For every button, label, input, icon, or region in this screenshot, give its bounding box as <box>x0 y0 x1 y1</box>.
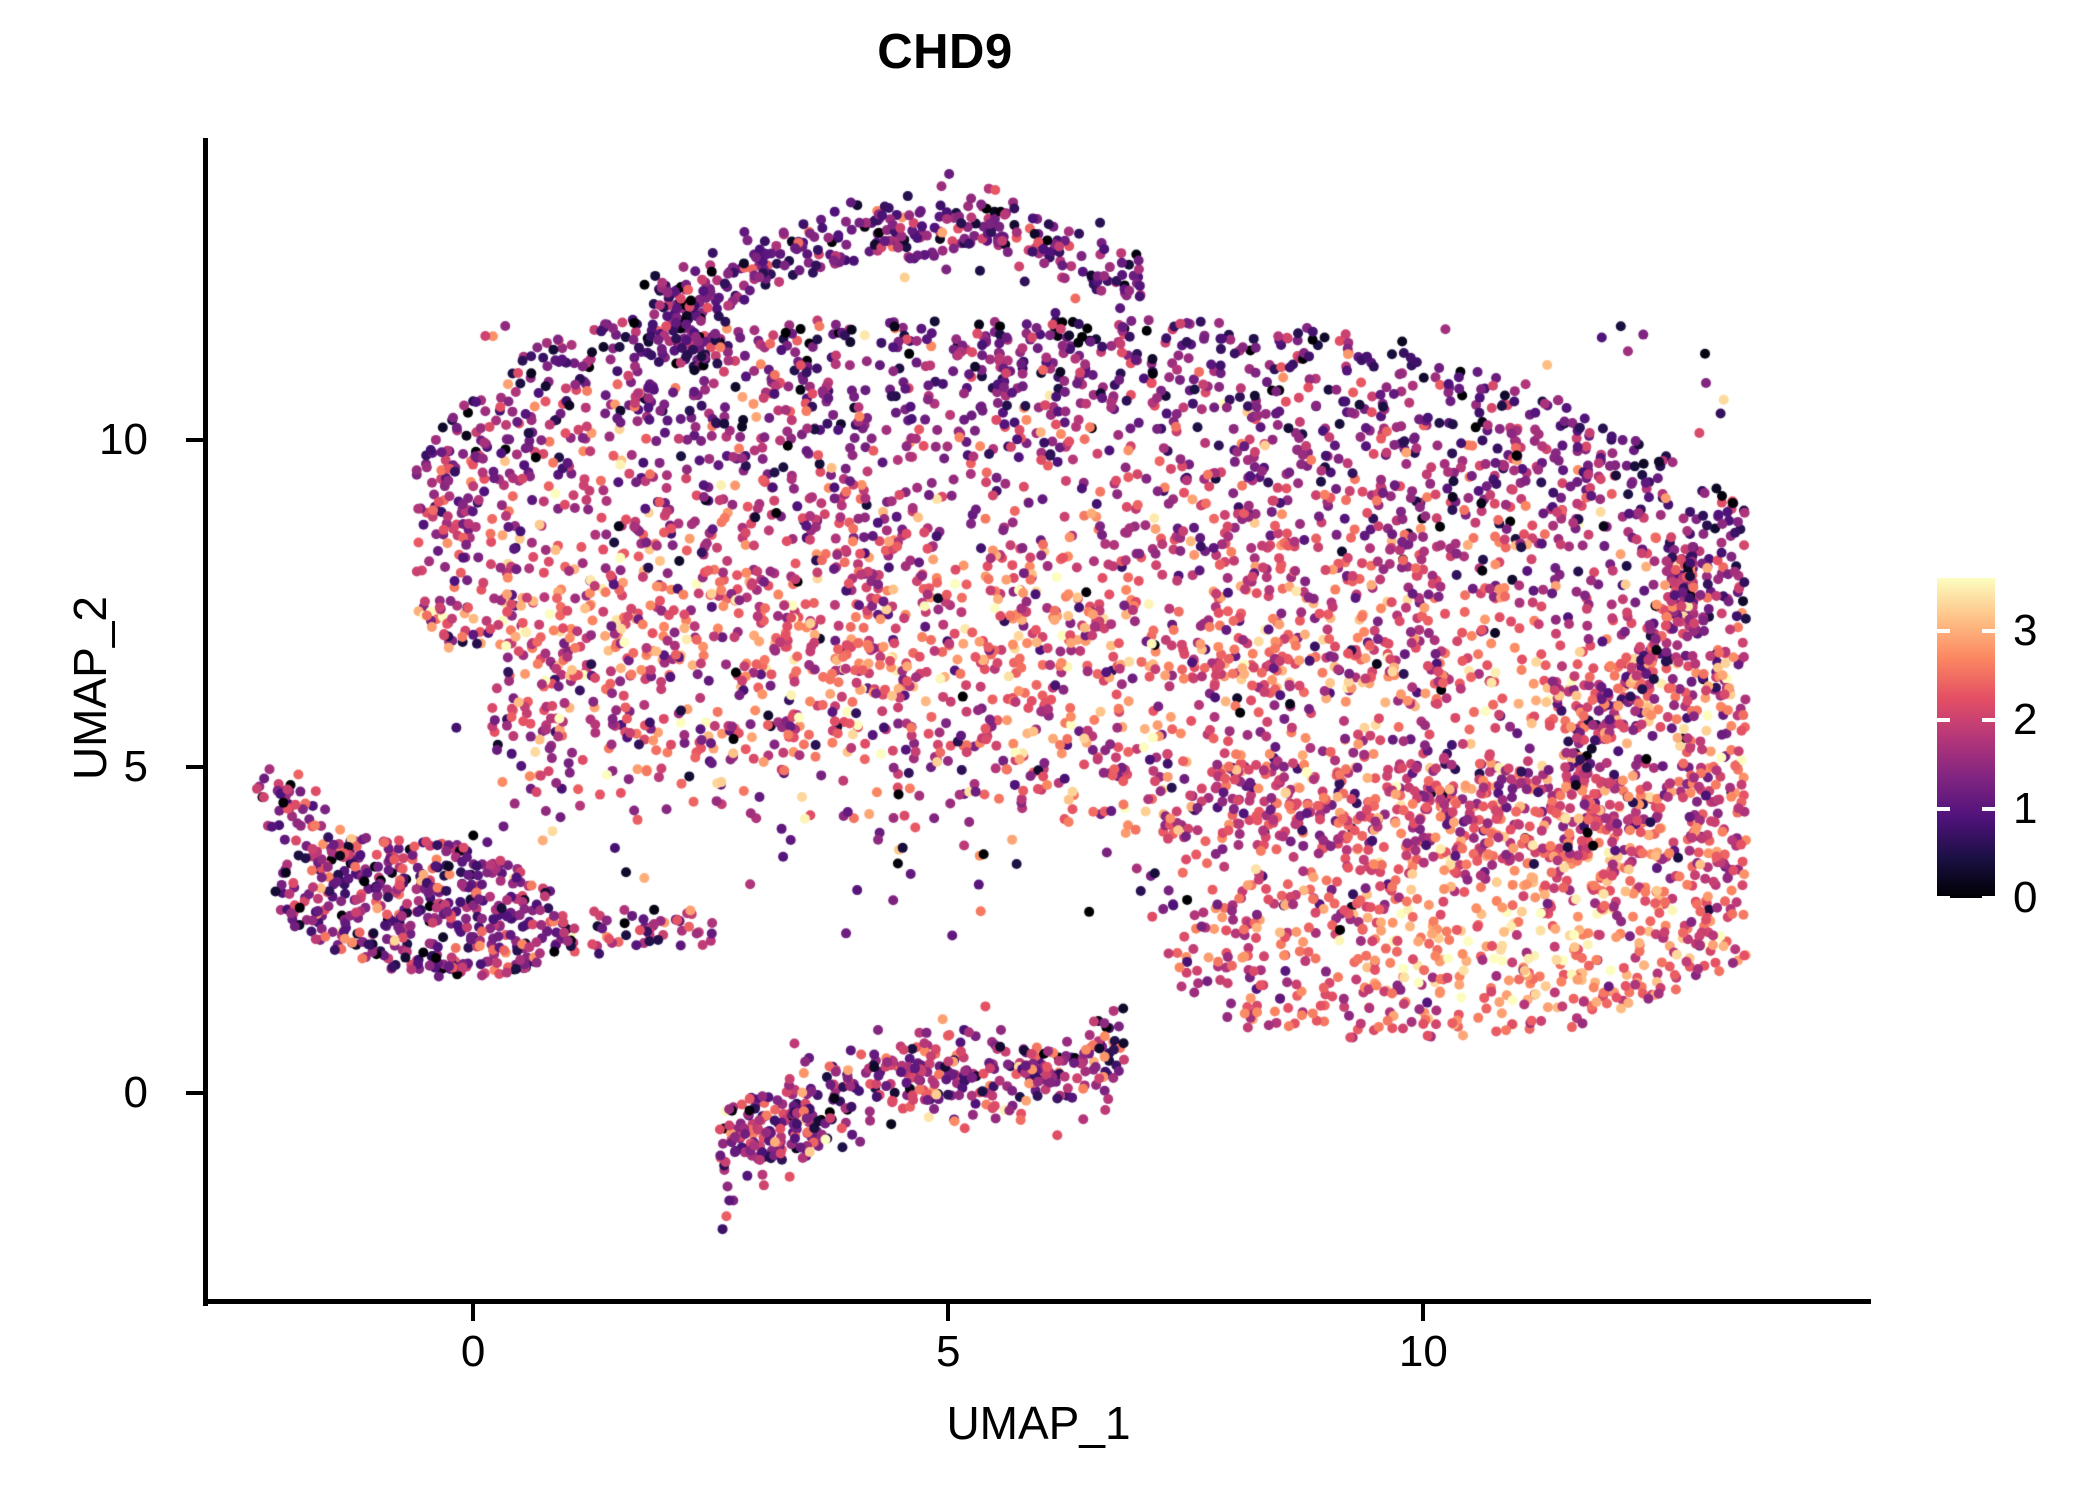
color-legend-tick-label: 0 <box>2013 872 2093 924</box>
feature-plot-figure: CHD9 0510 0510 UMAP_1 UMAP_2 0123 <box>0 0 2100 1500</box>
color-legend-tick-label: 3 <box>2013 605 2093 657</box>
y-tick-mark <box>186 438 203 442</box>
x-tick-label: 0 <box>383 1326 563 1378</box>
scatter-points-layer <box>207 140 1870 1302</box>
color-legend-tick-label: 2 <box>2013 694 2093 746</box>
x-tick-mark <box>471 1304 475 1321</box>
y-axis-title: UMAP_2 <box>62 288 118 1088</box>
x-axis-title: UMAP_1 <box>207 1395 1870 1451</box>
color-legend-gradient-bar <box>1937 578 1995 898</box>
x-axis-line <box>203 1299 1871 1304</box>
scatter-plot-panel <box>207 140 1870 1302</box>
page-title: CHD9 <box>0 22 1890 82</box>
x-tick-label: 10 <box>1333 1326 1513 1378</box>
y-tick-mark <box>186 1091 203 1095</box>
y-axis-line <box>203 138 208 1306</box>
x-tick-label: 5 <box>858 1326 1038 1378</box>
color-legend: 0123 <box>1937 578 2097 908</box>
color-legend-tick-label: 1 <box>2013 783 2093 835</box>
x-tick-mark <box>946 1304 950 1321</box>
x-tick-mark <box>1421 1304 1425 1321</box>
y-tick-mark <box>186 765 203 769</box>
